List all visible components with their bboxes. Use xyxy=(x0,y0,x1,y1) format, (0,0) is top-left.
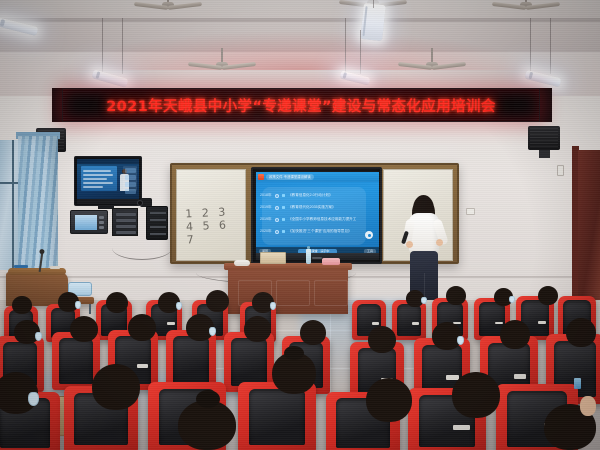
equipment-rack xyxy=(112,208,138,236)
marker-icon xyxy=(282,206,286,210)
lamp-rod xyxy=(345,18,346,74)
slide-row: 2019年 《教育现代化2035实施方案》 xyxy=(260,203,356,212)
slide-row-year: 2018年 xyxy=(260,193,272,198)
lamp-rod xyxy=(530,18,531,74)
slide-window-title: 政策文件·专递课堂建设解读 xyxy=(266,174,314,180)
slide-row: 2018年 《教育信息化2.0行动计划》 xyxy=(260,191,356,200)
interactive-display[interactable]: 政策文件·专递课堂建设解读 2018年 《教育信息化2.0行动计划》 2019年… xyxy=(251,167,382,264)
lectern-item xyxy=(50,266,60,269)
lamp-rod xyxy=(122,18,123,74)
slide-row: 2019年 《全国中小学教师信息技术应用能力提升工程2.0》 xyxy=(260,215,356,224)
lamp-rod xyxy=(550,18,551,74)
slide-titlebar: 政策文件·专递课堂建设解读 xyxy=(256,172,379,182)
slide-row-text: 《教育现代化2035实施方案》 xyxy=(288,205,356,210)
lamp-rod xyxy=(373,0,374,8)
control-panel-buttons[interactable] xyxy=(99,216,104,229)
lectern-item xyxy=(14,265,28,268)
slide-row-year: 2020年 xyxy=(260,229,272,234)
control-panel[interactable] xyxy=(70,210,108,234)
slide-row-year: 2019年 xyxy=(260,205,272,210)
bullet-icon xyxy=(275,194,279,198)
wall-outlet xyxy=(466,208,475,215)
marker-icon xyxy=(282,230,286,234)
display-brand-mark xyxy=(312,257,322,259)
presenter-hand xyxy=(436,239,443,246)
slide-row-text: 《教育信息化2.0行动计划》 xyxy=(288,193,356,198)
slide-row-text: 《加快推进“三个课堂”应用的指导意见》 xyxy=(288,229,356,234)
wall-switch xyxy=(557,165,564,176)
mobile-phone xyxy=(574,378,581,389)
presenter-hand xyxy=(406,241,413,248)
cardboard-box xyxy=(260,252,286,264)
white-tray xyxy=(234,260,250,266)
display-screen[interactable]: 政策文件·专递课堂建设解读 2018年 《教育信息化2.0行动计划》 2019年… xyxy=(256,172,379,255)
presenter-blouse xyxy=(409,213,439,253)
lamp-rod xyxy=(360,30,361,74)
door xyxy=(578,150,600,310)
classroom-photo: 2021年天峨县中小学“专递课堂”建设与常态化应用培训会 xyxy=(0,0,600,450)
slide-row: 2020年 《加快推进“三个课堂”应用的指导意见》 xyxy=(260,227,356,236)
bullet-icon xyxy=(275,206,279,210)
tube-light xyxy=(360,3,386,41)
whiteboard-writing: 1 2 3 4 5 6 7 xyxy=(185,204,246,246)
led-banner-endcap-right xyxy=(540,88,552,122)
whiteboard-left-wing[interactable]: 1 2 3 4 5 6 7 xyxy=(176,169,246,261)
attendee-hand xyxy=(580,396,596,416)
av-equipment-box xyxy=(146,206,168,240)
lamp-rod xyxy=(102,18,103,74)
speaker-mount-right xyxy=(539,150,550,158)
document-icon xyxy=(258,174,264,180)
pink-folder xyxy=(322,258,340,265)
led-banner-text: 2021年天峨县中小学“专递课堂”建设与常态化应用培训会 xyxy=(106,95,496,116)
control-panel-screen xyxy=(75,215,97,230)
cable xyxy=(112,236,172,260)
bullet-icon xyxy=(275,218,279,222)
bullet-icon xyxy=(275,230,279,234)
remote-monitor-screen xyxy=(77,159,139,199)
ceiling-beam xyxy=(0,18,600,22)
marker-icon xyxy=(282,194,286,198)
led-banner: 2021年天峨县中小学“专递课堂”建设与常态化应用培训会 xyxy=(62,88,540,122)
window-curtain xyxy=(18,136,58,286)
slide-row-text: 《全国中小学教师信息技术应用能力提升工程2.0》 xyxy=(288,217,356,222)
slide-row-year: 2019年 xyxy=(260,217,272,222)
settings-icon[interactable] xyxy=(365,231,373,239)
wall-speaker-right xyxy=(528,126,560,150)
marker-icon xyxy=(282,218,286,222)
seat[interactable] xyxy=(392,300,426,340)
remote-classroom-monitor[interactable] xyxy=(74,156,142,206)
led-banner-glow xyxy=(60,30,540,70)
water-bottle xyxy=(306,249,311,264)
